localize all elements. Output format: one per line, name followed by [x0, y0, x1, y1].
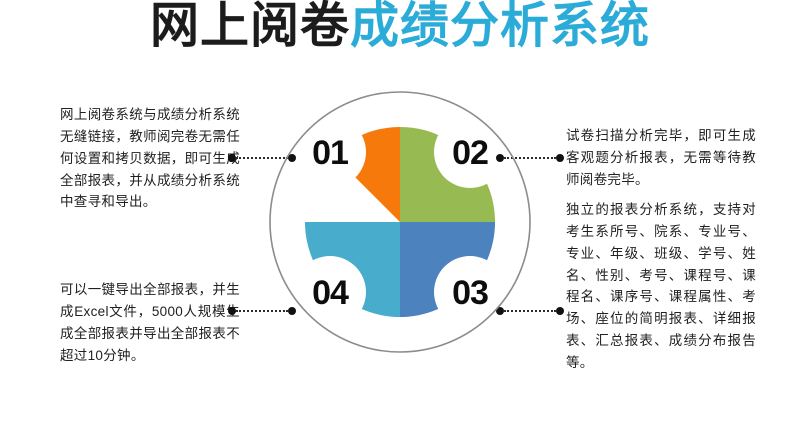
page-title: 网上阅卷成绩分析系统 — [0, 2, 800, 51]
note-text-04: 可以一键导出全部报表，并生成Excel文件，5000人规模生成全部报表并导出全部… — [60, 279, 240, 366]
connector-dot-outer-02 — [556, 154, 564, 162]
segment-number-01[interactable]: 01 — [312, 134, 348, 172]
segment-number-02[interactable]: 02 — [452, 134, 488, 172]
connector-dot-outer-01 — [228, 154, 236, 162]
circular-diagram: 01 02 03 04 — [268, 90, 532, 354]
connector-dot-outer-04 — [228, 307, 236, 315]
segment-number-04[interactable]: 04 — [312, 274, 349, 312]
connector-dot-outer-03 — [556, 307, 564, 315]
note-text-01: 网上阅卷系统与成绩分析系统无缝链接，教师阅完卷无需任何设置和拷贝数据，即可生成全… — [60, 104, 240, 213]
segment-number-03[interactable]: 03 — [452, 274, 488, 312]
page-title-accent: 成绩分析系统 — [350, 0, 650, 53]
note-text-03: 独立的报表分析系统，支持对考生系所号、院系、专业号、专业、年级、班级、学号、姓名… — [566, 199, 756, 374]
page-title-primary: 网上阅卷 — [150, 0, 350, 53]
note-text-02: 试卷扫描分析完毕，即可生成客观题分析报表，无需等待教师阅卷完毕。 — [566, 125, 756, 191]
